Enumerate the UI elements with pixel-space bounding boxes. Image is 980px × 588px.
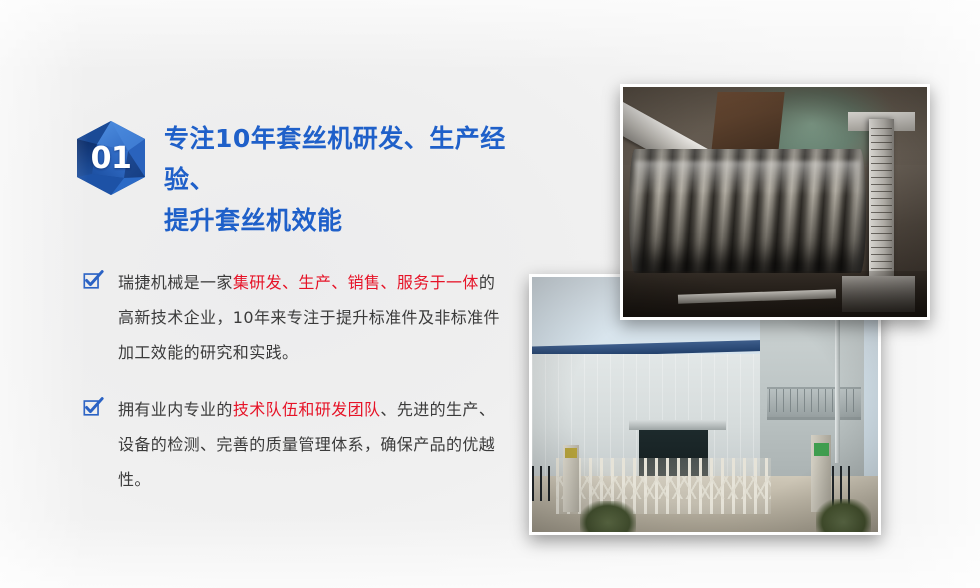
page-title: 专注10年套丝机研发、生产经验、 提升套丝机效能: [164, 112, 540, 241]
list-item: 拥有业内专业的技术队伍和研发团队、先进的生产、设备的检测、完善的质量管理体系，确…: [82, 392, 540, 497]
list-item-text: 拥有业内专业的技术队伍和研发团队、先进的生产、设备的检测、完善的质量管理体系，确…: [118, 392, 508, 497]
headline-row: 01 专注10年套丝机研发、生产经验、 提升套丝机效能: [70, 112, 540, 241]
list-item-text: 瑞捷机械是一家集研发、生产、销售、服务于一体的高新技术企业，10年来专注于提升标…: [118, 265, 508, 370]
section-number-badge: 01: [72, 118, 150, 198]
bullet-1-seg-1: 瑞捷机械是一家: [118, 273, 233, 292]
check-box-icon: [82, 396, 104, 418]
check-box-icon: [82, 269, 104, 291]
promo-banner: 01 专注10年套丝机研发、生产经验、 提升套丝机效能 瑞捷机械是一家集研发、生…: [0, 0, 980, 588]
content-left-column: 01 专注10年套丝机研发、生产经验、 提升套丝机效能 瑞捷机械是一家集研发、生…: [70, 112, 540, 519]
feature-bullet-list: 瑞捷机械是一家集研发、生产、销售、服务于一体的高新技术企业，10年来专注于提升标…: [82, 265, 540, 497]
list-item: 瑞捷机械是一家集研发、生产、销售、服务于一体的高新技术企业，10年来专注于提升标…: [82, 265, 540, 370]
bullet-2-seg-2-highlight: 技术队伍和研发团队: [233, 400, 381, 419]
bullet-1-seg-2-highlight: 集研发、生产、销售、服务于一体: [233, 273, 479, 292]
bullet-2-seg-1: 拥有业内专业的: [118, 400, 233, 419]
machine-photo-content: [623, 87, 927, 317]
threaded-rod-caliper-photo: [620, 84, 930, 320]
photo-vignette: [623, 87, 927, 317]
badge-number-label: 01: [72, 118, 150, 199]
